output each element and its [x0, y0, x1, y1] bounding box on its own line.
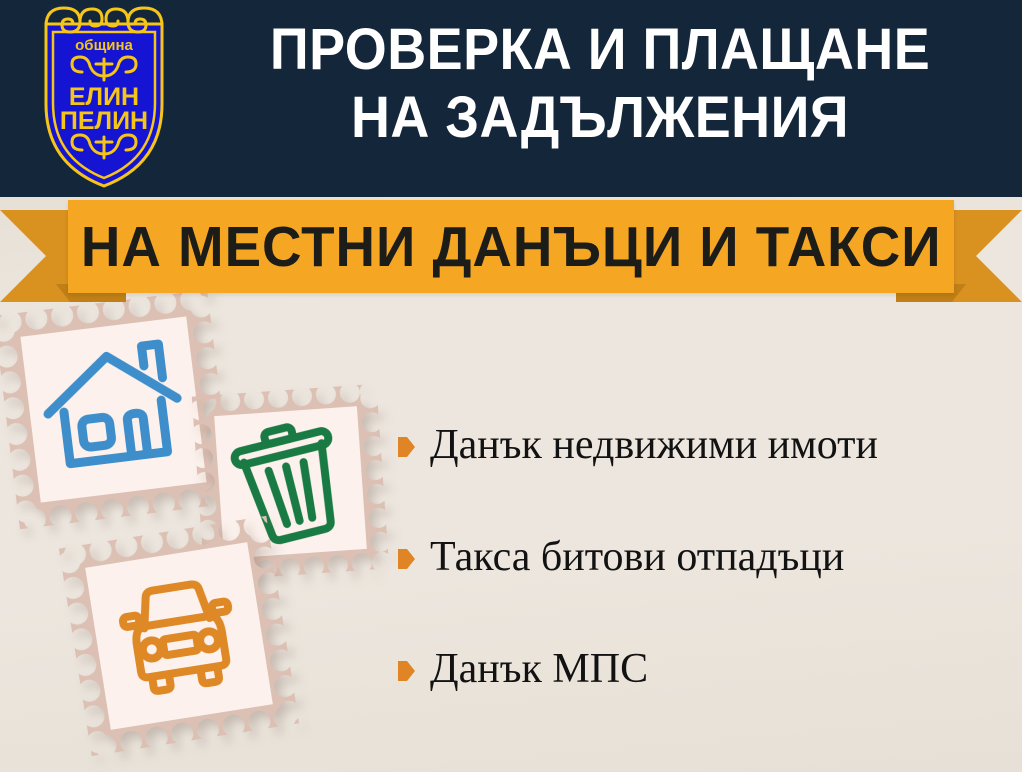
page-title: ПРОВЕРКА И ПЛАЩАНЕ НА ЗАДЪЛЖЕНИЯ [219, 16, 982, 152]
list-item-label: Данък недвижими имоти [430, 420, 878, 470]
list-item-label: Данък МПС [430, 644, 648, 694]
arrow-bullet-icon [398, 437, 415, 457]
poster-canvas: община ЕЛИН ПЕЛИН ПРОВЕРКА И ПЛАЩАНЕ НА … [0, 0, 1022, 772]
ribbon-banner: НА МЕСТНИ ДАНЪЦИ И ТАКСИ [68, 200, 954, 293]
crest-municipality-label: община [75, 37, 133, 54]
list-item-label: Такса битови отпадъци [430, 532, 844, 582]
municipality-crest-logo: община ЕЛИН ПЕЛИН [24, 6, 184, 191]
subtitle-ribbon: НА МЕСТНИ ДАНЪЦИ И ТАКСИ [0, 196, 1022, 302]
arrow-bullet-icon [398, 661, 415, 681]
arrow-bullet-icon [398, 549, 415, 569]
page-title-line-2: НА ЗАДЪЛЖЕНИЯ [219, 84, 982, 152]
stamp-vehicle [59, 516, 299, 756]
tax-type-list: Данък недвижими имоти Такса битови отпад… [398, 420, 1008, 694]
list-item[interactable]: Данък МПС [398, 644, 1008, 694]
page-title-line-1: ПРОВЕРКА И ПЛАЩАНЕ [219, 16, 982, 84]
list-item[interactable]: Данък недвижими имоти [398, 420, 1008, 470]
stamp-illustration-group [0, 296, 420, 772]
list-item[interactable]: Такса битови отпадъци [398, 532, 1008, 582]
header-band: община ЕЛИН ПЕЛИН ПРОВЕРКА И ПЛАЩАНЕ НА … [0, 0, 1022, 197]
ribbon-label: НА МЕСТНИ ДАНЪЦИ И ТАКСИ [81, 217, 942, 277]
crest-name-line2: ПЕЛИН [60, 107, 148, 135]
